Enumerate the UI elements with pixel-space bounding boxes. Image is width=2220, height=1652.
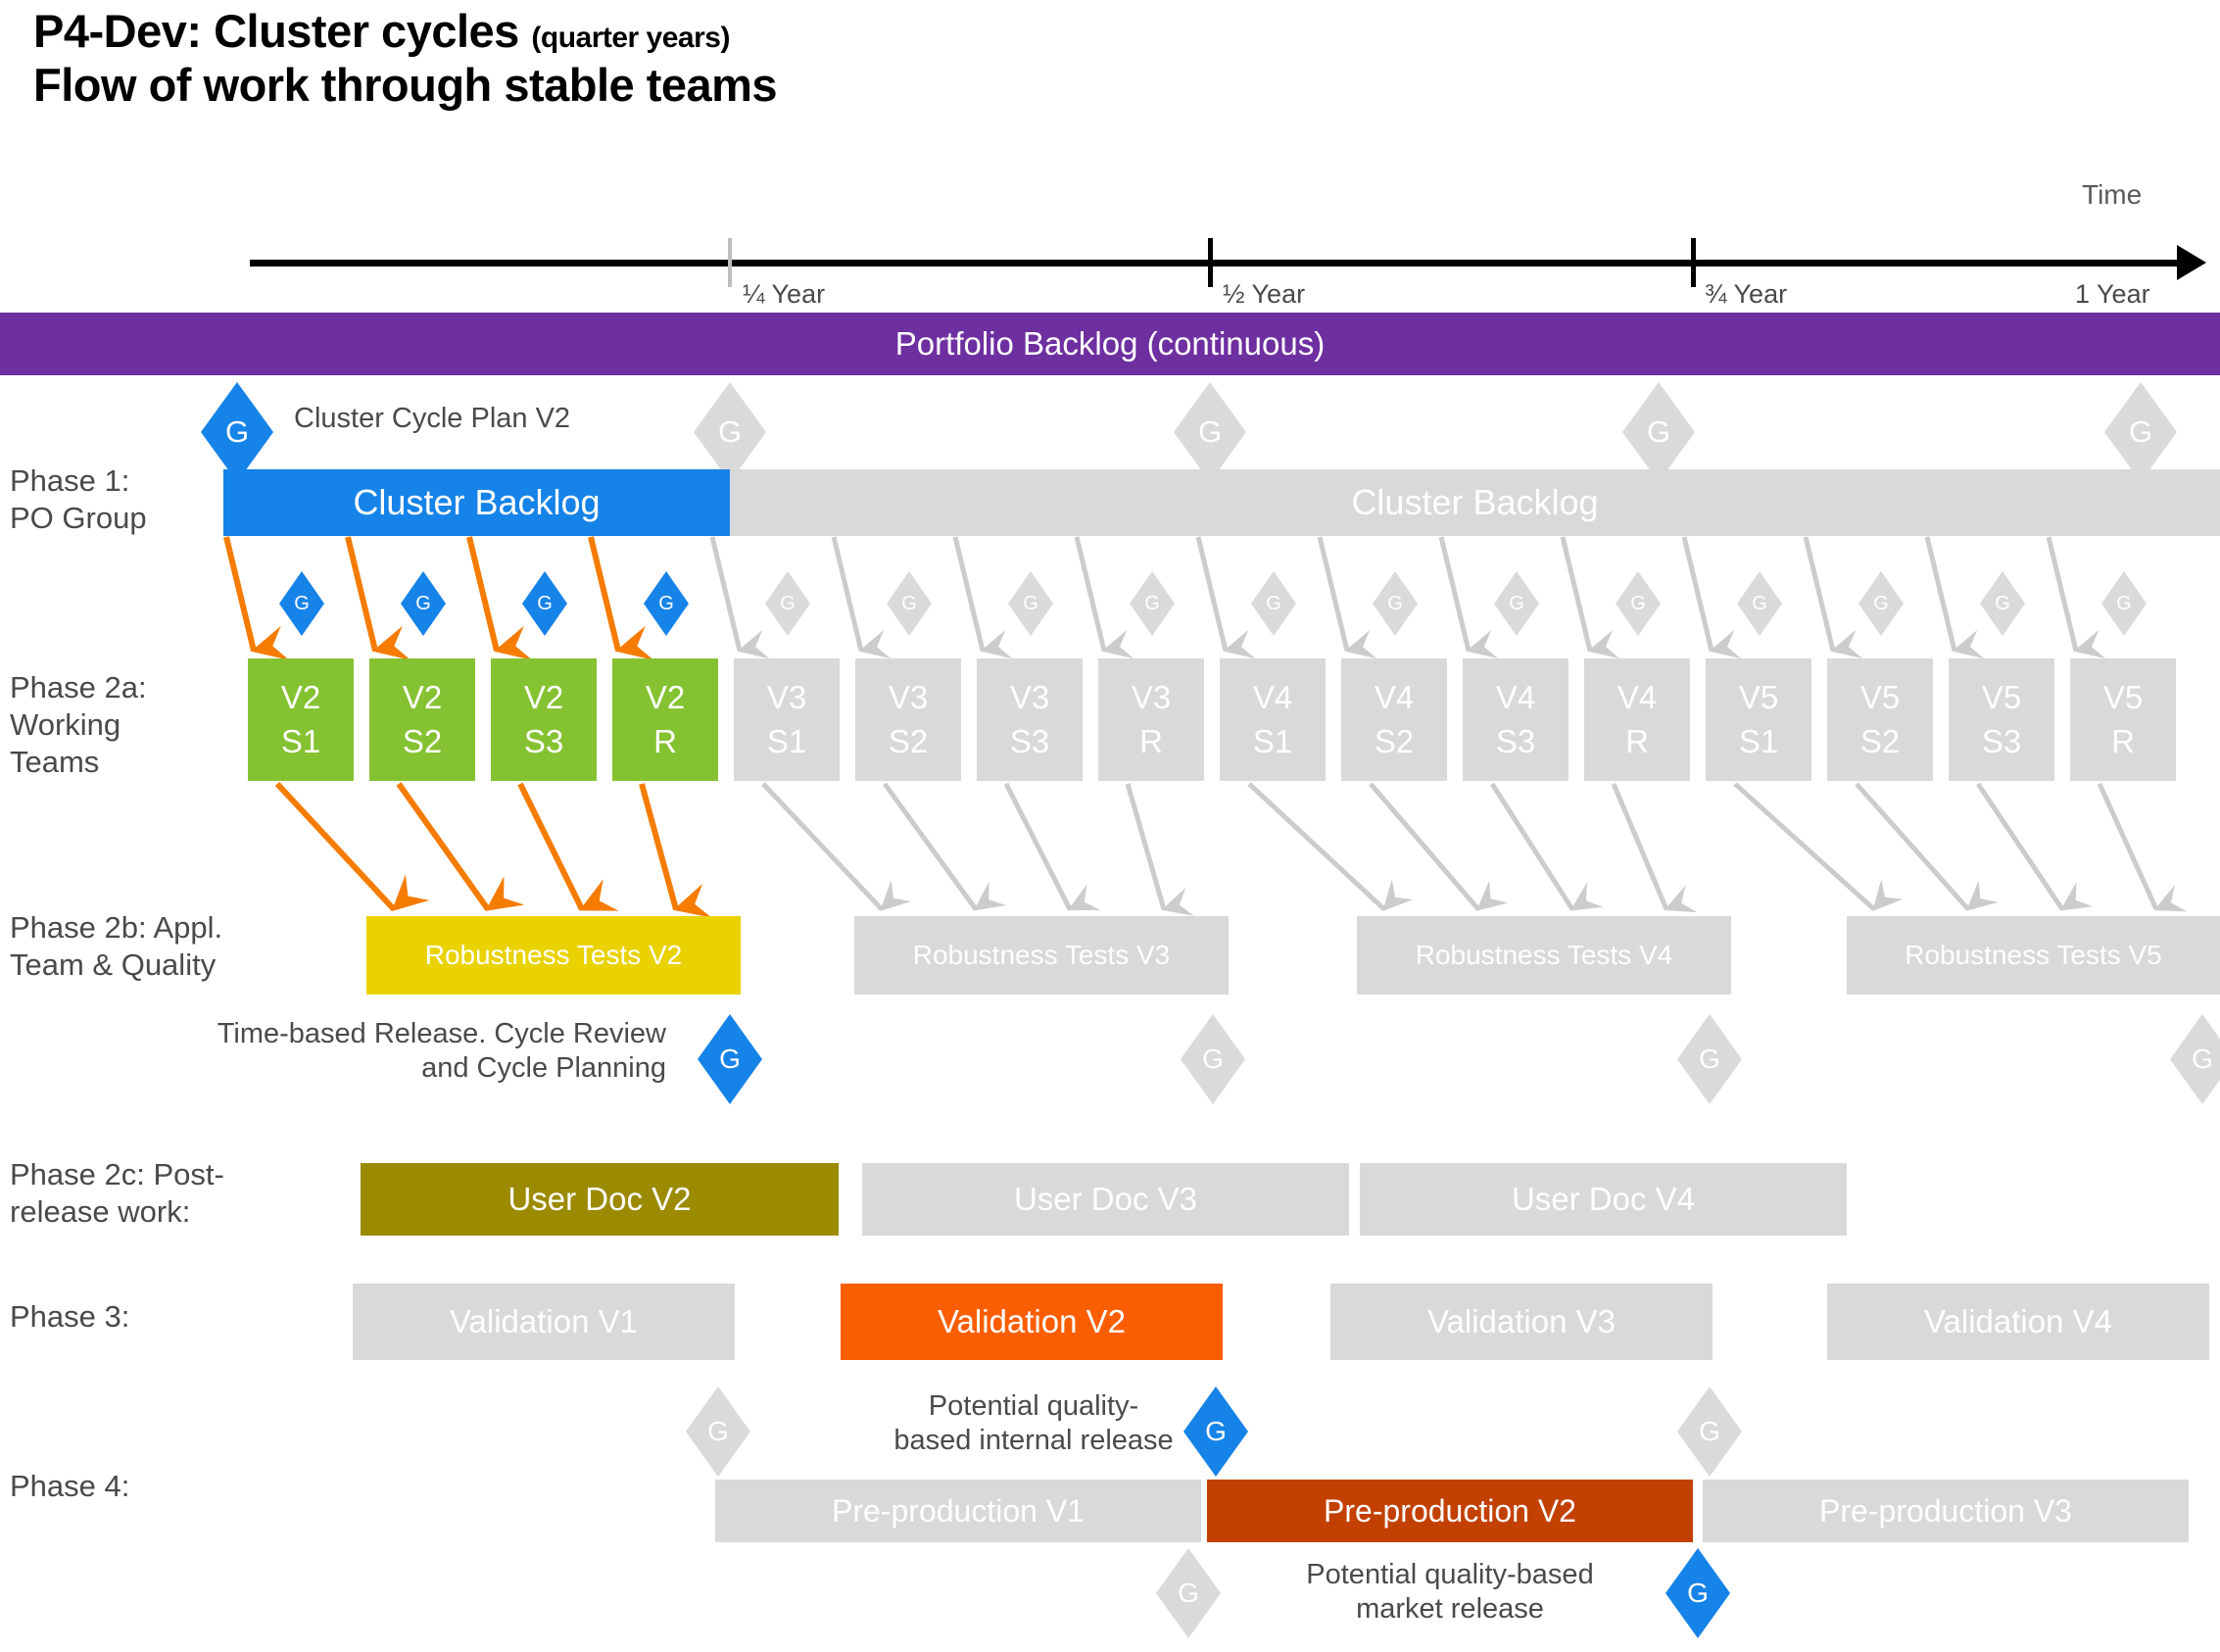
time-axis-line <box>250 260 2185 267</box>
team-cell-v5-r[interactable]: V5R <box>2070 658 2176 781</box>
team-cell-v3-s3[interactable]: V3S3 <box>977 658 1083 781</box>
title-block: P4-Dev: Cluster cycles (quarter years) F… <box>33 4 1405 113</box>
gate-letter: G <box>2129 414 2152 450</box>
cell-version: V3 <box>1132 676 1171 720</box>
cell-sprint: S3 <box>1982 720 2021 764</box>
gate-letter: G <box>1023 593 1038 615</box>
label-market-release: Potential quality-basedmarket release <box>1264 1558 1636 1628</box>
portfolio-backlog-label: Portfolio Backlog (continuous) <box>0 313 2220 375</box>
bar-label: Pre-production V1 <box>832 1493 1085 1530</box>
bar-pre-production-v2[interactable]: Pre-production V2 <box>1207 1480 1693 1542</box>
bar-label: Pre-production V3 <box>1819 1493 2072 1530</box>
bar-validation-v1[interactable]: Validation V1 <box>353 1284 735 1360</box>
bar-label: Robustness Tests V4 <box>1416 940 1673 971</box>
bar-pre-production-v3[interactable]: Pre-production V3 <box>1703 1480 2189 1542</box>
gate-letter: G <box>1202 1044 1224 1075</box>
gate-letter: G <box>1752 593 1767 615</box>
team-cell-v2-s1[interactable]: V2S1 <box>248 658 354 781</box>
cell-sprint: S2 <box>403 720 442 764</box>
team-cell-v5-s1[interactable]: V5S1 <box>1706 658 1811 781</box>
row-label-phase3: Phase 3: <box>10 1298 304 1336</box>
bar-robustness-tests-v3[interactable]: Robustness Tests V3 <box>854 916 1229 995</box>
time-axis-arrow-icon <box>2177 245 2206 280</box>
team-cell-v4-s2[interactable]: V4S2 <box>1341 658 1447 781</box>
gate-letter: G <box>294 593 310 615</box>
gate-letter: G <box>1205 1416 1227 1447</box>
milestone-diamond-market-release-gray[interactable]: G <box>1156 1548 1221 1638</box>
bar-label: Pre-production V2 <box>1324 1493 1576 1530</box>
bar-label: Robustness Tests V5 <box>1905 940 2162 971</box>
bar-user-doc-v3[interactable]: User Doc V3 <box>862 1163 1349 1236</box>
bar-label: Cluster Backlog <box>353 482 600 523</box>
gate-diamond-v2-r[interactable]: G <box>644 571 689 636</box>
gate-letter: G <box>658 593 674 615</box>
bar-label: User Doc V4 <box>1512 1181 1695 1218</box>
cell-sprint: S2 <box>889 720 928 764</box>
milestone-diamond-q4[interactable]: G <box>2104 382 2177 482</box>
team-cell-v5-s2[interactable]: V5S2 <box>1827 658 1933 781</box>
team-cell-v2-r[interactable]: V2R <box>612 658 718 781</box>
bar-robustness-tests-v2[interactable]: Robustness Tests V2 <box>366 916 741 995</box>
milestone-diamond-internal-release-v2[interactable]: G <box>1183 1386 1248 1477</box>
gate-letter: G <box>718 414 742 450</box>
cell-version: V4 <box>1496 676 1535 720</box>
gate-diamond-v4-s3[interactable]: G <box>1494 571 1539 636</box>
cell-version: V5 <box>1860 676 1900 720</box>
bar-pre-production-v1[interactable]: Pre-production V1 <box>715 1480 1201 1542</box>
team-cell-v2-s2[interactable]: V2S2 <box>369 658 475 781</box>
cell-version: V2 <box>524 676 563 720</box>
row-label-phase4: Phase 4: <box>10 1468 304 1505</box>
bar-label: Validation V2 <box>938 1303 1126 1340</box>
label-time-based-release: Time-based Release. Cycle Reviewand Cycl… <box>137 1017 666 1087</box>
milestone-diamond-release-q3[interactable]: G <box>1677 1014 1742 1104</box>
bar-label: Cluster Backlog <box>1351 482 1598 523</box>
cell-version: V3 <box>1010 676 1049 720</box>
cell-version: V5 <box>1982 676 2021 720</box>
label-cluster-cycle-plan: Cluster Cycle Plan V2 <box>294 402 570 436</box>
gate-diamond-v4-s2[interactable]: G <box>1373 571 1418 636</box>
bar-robustness-tests-v5[interactable]: Robustness Tests V5 <box>1847 916 2220 995</box>
cell-version: V5 <box>1739 676 1778 720</box>
bar-user-doc-v2[interactable]: User Doc V2 <box>361 1163 839 1236</box>
bar-validation-v2[interactable]: Validation V2 <box>841 1284 1223 1360</box>
cell-version: V4 <box>1253 676 1292 720</box>
cell-sprint: S3 <box>1496 720 1535 764</box>
cell-sprint: S3 <box>1010 720 1049 764</box>
gate-diamond-v2-s2[interactable]: G <box>401 571 446 636</box>
gate-diamond-v3-s1[interactable]: G <box>765 571 810 636</box>
team-cell-v2-s3[interactable]: V2S3 <box>491 658 597 781</box>
cell-sprint: R <box>1139 720 1163 764</box>
team-cell-v5-s3[interactable]: V5S3 <box>1949 658 2054 781</box>
milestone-diamond-internal-release-v3[interactable]: G <box>1677 1386 1742 1477</box>
gate-letter: G <box>225 414 249 450</box>
title-subtitle: (quarter years) <box>531 22 730 54</box>
bar-label: Robustness Tests V2 <box>425 940 683 971</box>
gate-diamond-v5-r[interactable]: G <box>2101 571 2147 636</box>
gate-letter: G <box>537 593 553 615</box>
label-internal-release: Potential quality-based internal release <box>828 1389 1239 1459</box>
bar-label: User Doc V2 <box>507 1181 691 1218</box>
bar-validation-v3[interactable]: Validation V3 <box>1330 1284 1713 1360</box>
gate-letter: G <box>707 1416 729 1447</box>
gate-letter: G <box>1178 1578 1199 1609</box>
row-label-phase2b: Phase 2b: Appl.Team & Quality <box>10 909 304 984</box>
bar-cluster-backlog[interactable]: Cluster Backlog <box>730 469 2220 536</box>
gate-diamond-v5-s1[interactable]: G <box>1737 571 1782 636</box>
milestone-diamond-release-q4[interactable]: G <box>2170 1014 2220 1104</box>
milestone-diamond-time-based-release[interactable]: G <box>698 1014 762 1104</box>
gate-letter: G <box>901 593 917 615</box>
cell-version: V5 <box>2103 676 2143 720</box>
axis-tick-three-quarter <box>1691 238 1696 287</box>
gate-diamond-v4-r[interactable]: G <box>1616 571 1661 636</box>
cell-sprint: R <box>1625 720 1649 764</box>
cell-sprint: S1 <box>281 720 320 764</box>
bar-cluster-backlog[interactable]: Cluster Backlog <box>223 469 730 536</box>
axis-label-quarter: ¼ Year <box>743 279 825 310</box>
gate-diamond-v4-s1[interactable]: G <box>1251 571 1296 636</box>
gate-letter: G <box>415 593 431 615</box>
gate-letter: G <box>780 593 796 615</box>
gate-letter: G <box>1630 593 1646 615</box>
cell-version: V2 <box>281 676 320 720</box>
cell-sprint: S3 <box>524 720 563 764</box>
cell-sprint: S1 <box>1739 720 1778 764</box>
page-subtitle: Flow of work through stable teams <box>33 58 1405 112</box>
cell-sprint: R <box>2111 720 2135 764</box>
axis-label-one-year: 1 Year <box>2075 279 2150 310</box>
gate-diamond-v2-s3[interactable]: G <box>522 571 567 636</box>
gate-letter: G <box>1699 1416 1720 1447</box>
cell-version: V4 <box>1375 676 1414 720</box>
gate-letter: G <box>1198 414 1222 450</box>
cell-sprint: S2 <box>1860 720 1900 764</box>
milestone-diamond-cluster-cycle-plan[interactable]: G <box>201 382 273 482</box>
milestone-diamond-q1[interactable]: G <box>694 382 766 482</box>
gate-letter: G <box>719 1044 741 1075</box>
axis-label-three-quarter: ¾ Year <box>1705 279 1787 310</box>
milestone-diamond-internal-release-v1[interactable]: G <box>686 1386 750 1477</box>
bar-user-doc-v4[interactable]: User Doc V4 <box>1360 1163 1847 1236</box>
bar-validation-v4[interactable]: Validation V4 <box>1827 1284 2209 1360</box>
bar-label: Robustness Tests V3 <box>913 940 1171 971</box>
cell-version: V2 <box>403 676 442 720</box>
bar-robustness-tests-v4[interactable]: Robustness Tests V4 <box>1357 916 1731 995</box>
gate-diamond-v3-s2[interactable]: G <box>887 571 932 636</box>
team-cell-v3-s1[interactable]: V3S1 <box>734 658 840 781</box>
axis-time-label: Time <box>2082 179 2142 211</box>
axis-label-half: ½ Year <box>1223 279 1305 310</box>
gate-letter: G <box>2192 1044 2213 1075</box>
gate-letter: G <box>1144 593 1160 615</box>
axis-tick-half <box>1208 238 1213 287</box>
bar-label: Validation V4 <box>1924 1303 2112 1340</box>
gate-letter: G <box>1509 593 1524 615</box>
team-cell-v4-r[interactable]: V4R <box>1584 658 1690 781</box>
gate-letter: G <box>2116 593 2132 615</box>
gate-diamond-v3-r[interactable]: G <box>1130 571 1175 636</box>
bar-label: User Doc V3 <box>1014 1181 1197 1218</box>
gate-letter: G <box>1266 593 1281 615</box>
cell-sprint: R <box>653 720 677 764</box>
gate-letter: G <box>1687 1578 1709 1609</box>
team-cell-v4-s3[interactable]: V4S3 <box>1463 658 1568 781</box>
axis-tick-quarter <box>728 238 732 287</box>
cell-version: V2 <box>646 676 685 720</box>
gate-letter: G <box>1699 1044 1720 1075</box>
gate-diamond-v5-s3[interactable]: G <box>1980 571 2025 636</box>
milestone-diamond-market-release-blue[interactable]: G <box>1665 1548 1730 1638</box>
bar-label: Validation V3 <box>1427 1303 1616 1340</box>
team-cell-v3-r[interactable]: V3R <box>1098 658 1204 781</box>
row-label-phase2c: Phase 2c: Post-release work: <box>10 1156 304 1231</box>
gate-letter: G <box>1995 593 2010 615</box>
gate-letter: G <box>1647 414 1670 450</box>
page-title: P4-Dev: Cluster cycles (quarter years) <box>33 4 1405 58</box>
team-cell-v3-s2[interactable]: V3S2 <box>855 658 961 781</box>
portfolio-backlog-band: Portfolio Backlog (continuous) <box>0 313 2220 375</box>
milestone-diamond-q3[interactable]: G <box>1622 382 1695 482</box>
gate-diamond-v5-s2[interactable]: G <box>1858 571 1904 636</box>
cell-sprint: S1 <box>1253 720 1292 764</box>
milestone-diamond-q2[interactable]: G <box>1174 382 1246 482</box>
cell-version: V3 <box>889 676 928 720</box>
cell-version: V4 <box>1617 676 1657 720</box>
milestone-diamond-release-q2[interactable]: G <box>1181 1014 1245 1104</box>
gate-letter: G <box>1387 593 1403 615</box>
team-cell-v4-s1[interactable]: V4S1 <box>1220 658 1326 781</box>
gate-diamond-v2-s1[interactable]: G <box>279 571 324 636</box>
cell-sprint: S1 <box>767 720 806 764</box>
cell-sprint: S2 <box>1375 720 1414 764</box>
cell-version: V3 <box>767 676 806 720</box>
gate-letter: G <box>1873 593 1889 615</box>
title-main: P4-Dev: Cluster cycles <box>33 5 519 57</box>
gate-diamond-v3-s3[interactable]: G <box>1008 571 1053 636</box>
bar-label: Validation V1 <box>450 1303 638 1340</box>
